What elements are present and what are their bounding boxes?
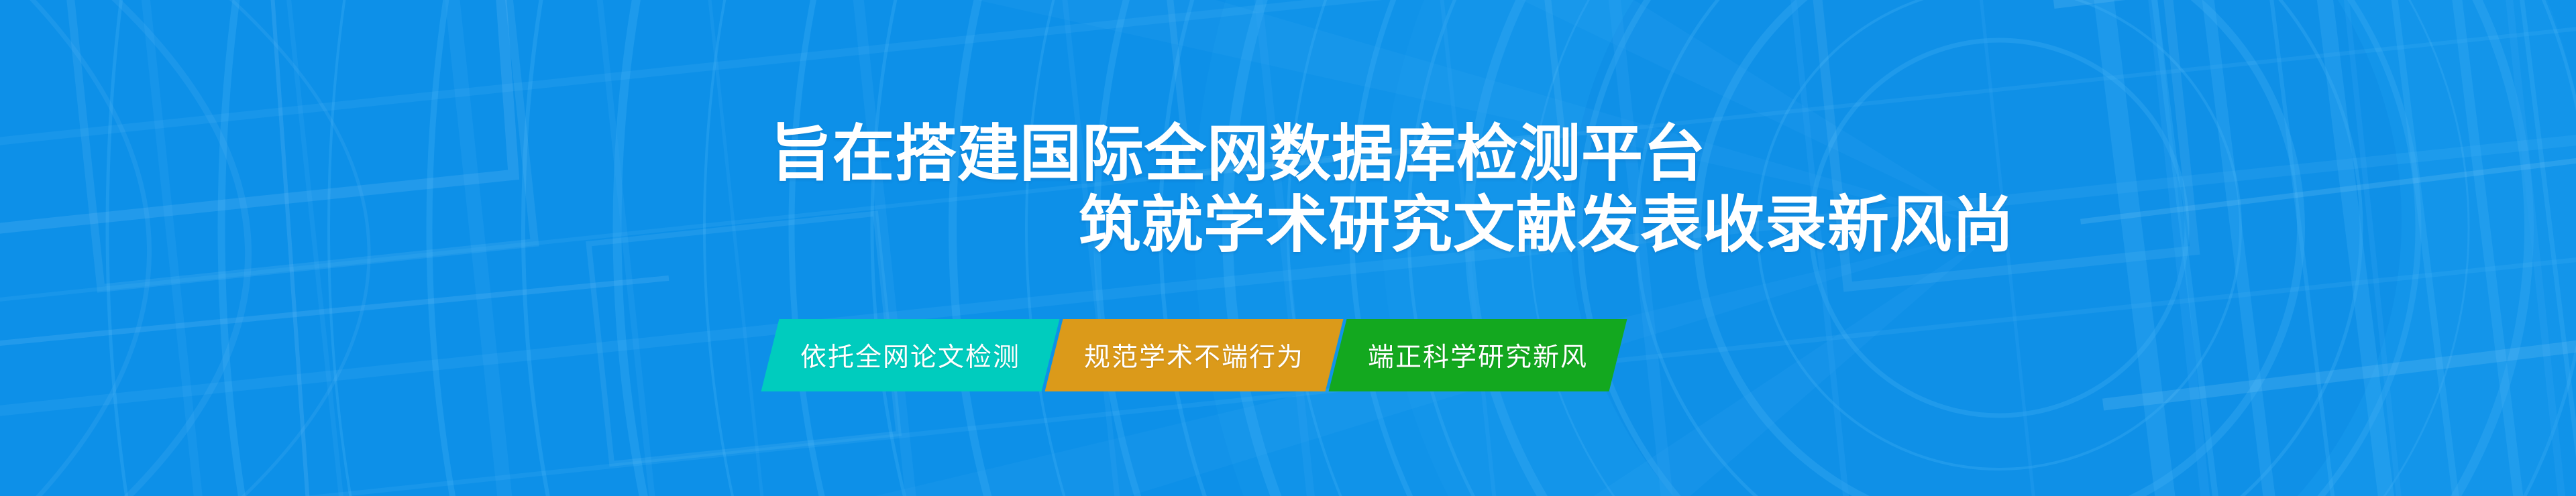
feature-tag-paper-detection[interactable]: 依托全网论文检测 <box>761 319 1060 391</box>
headline-line-2: 筑就学术研究文献发表收录新风尚 <box>0 193 2576 259</box>
feature-tag-research-ethos[interactable]: 端正科学研究新风 <box>1329 319 1627 391</box>
feature-tag-label: 依托全网论文检测 <box>800 336 1020 374</box>
promo-banner: 旨在搭建国际全网数据库检测平台 筑就学术研究文献发表收录新风尚 依托全网论文检测… <box>0 0 2576 496</box>
feature-tag-academic-misconduct[interactable]: 规范学术不端行为 <box>1045 319 1344 391</box>
feature-tag-label: 端正科学研究新风 <box>1368 336 1588 374</box>
feature-tag-strip: 依托全网论文检测 规范学术不端行为 端正科学研究新风 <box>761 319 1627 391</box>
headline-line-1: 旨在搭建国际全网数据库检测平台 <box>0 122 2576 188</box>
feature-tag-label: 规范学术不端行为 <box>1084 336 1304 374</box>
headline-block: 旨在搭建国际全网数据库检测平台 筑就学术研究文献发表收录新风尚 <box>0 122 2576 258</box>
